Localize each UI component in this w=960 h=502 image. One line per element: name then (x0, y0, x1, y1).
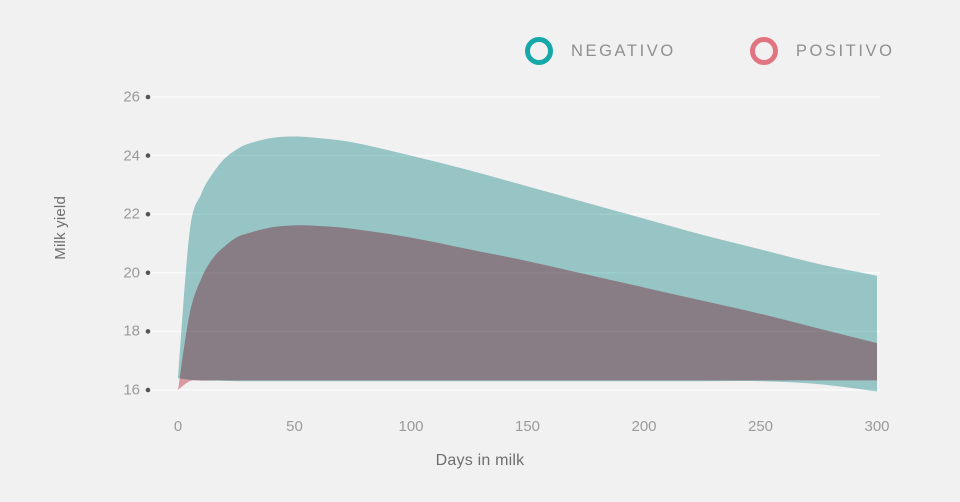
y-tick-dot (146, 212, 151, 217)
tick-dot-group (146, 95, 151, 393)
y-tick-label: 24 (100, 147, 140, 164)
series-area-group (178, 137, 877, 392)
x-tick-label: 200 (631, 418, 656, 435)
x-tick-label: 250 (748, 418, 773, 435)
y-tick-label: 26 (100, 89, 140, 106)
x-tick-label: 300 (864, 418, 889, 435)
y-tick-dot (146, 271, 151, 276)
x-tick-label: 0 (174, 418, 182, 435)
y-tick-dot (146, 329, 151, 334)
y-tick-dot (146, 153, 151, 158)
x-tick-label: 100 (398, 418, 423, 435)
x-axis-title: Days in milk (0, 452, 960, 470)
x-tick-label: 150 (515, 418, 540, 435)
plot-canvas (0, 0, 960, 502)
y-axis-title: Milk yield (52, 196, 78, 260)
y-tick-dot (146, 95, 151, 100)
y-tick-label: 18 (100, 323, 140, 340)
x-tick-label: 50 (286, 418, 303, 435)
milk-yield-area-chart: NEGATIVO POSITIVO 161820222426 050100150… (0, 0, 960, 502)
y-tick-label: 16 (100, 382, 140, 399)
y-tick-label: 22 (100, 206, 140, 223)
y-tick-label: 20 (100, 264, 140, 281)
y-tick-dot (146, 388, 151, 393)
